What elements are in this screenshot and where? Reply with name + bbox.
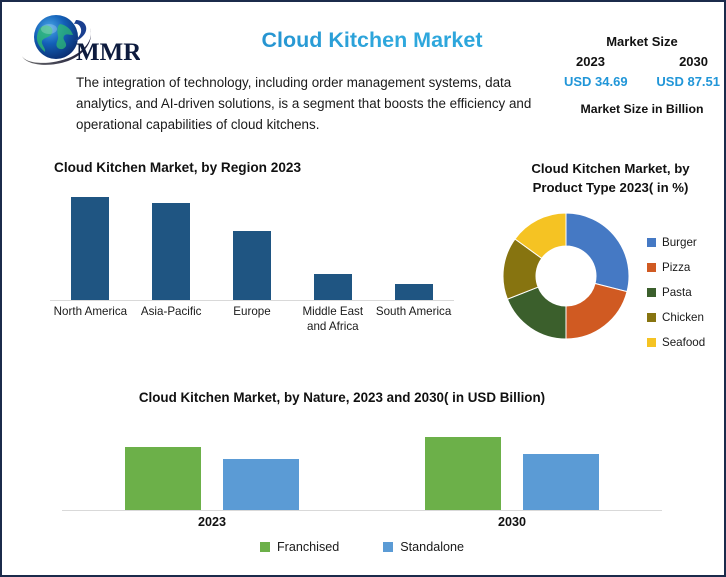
legend-item: Burger (647, 230, 725, 255)
legend-label: Franchised (277, 540, 339, 554)
mmr-logo: MMR (16, 10, 140, 68)
region-bar (71, 197, 109, 300)
legend-label: Chicken (662, 311, 704, 324)
nature-legend: FranchisedStandalone (62, 540, 662, 554)
legend-swatch (647, 263, 656, 272)
market-size-footer: Market Size in Billion (562, 102, 722, 116)
region-axis-label: Europe (212, 304, 293, 319)
region-chart-title: Cloud Kitchen Market, by Region 2023 (54, 160, 301, 175)
region-axis-label: South America (373, 304, 454, 319)
logo-wordmark: MMR (76, 39, 140, 66)
region-bar (395, 284, 433, 301)
legend-swatch (383, 542, 393, 552)
nature-bar (425, 437, 501, 510)
market-size-value-2030: USD 87.51 (656, 74, 720, 89)
nature-axis-label: 2023 (62, 515, 362, 529)
nature-chart-title: Cloud Kitchen Market, by Nature, 2023 an… (62, 390, 622, 405)
legend-label: Burger (662, 236, 697, 249)
legend-item: Pasta (647, 280, 725, 305)
legend-item: Pizza (647, 255, 725, 280)
nature-bar (223, 459, 299, 510)
legend-swatch (647, 288, 656, 297)
region-bar (233, 231, 271, 300)
nature-bar (125, 447, 201, 510)
product-type-chart-title: Cloud Kitchen Market, by Product Type 20… (508, 159, 713, 197)
legend-swatch (647, 313, 656, 322)
infographic-canvas: MMR Cloud Kitchen Market The integration… (0, 0, 726, 577)
product-type-legend: BurgerPizzaPastaChickenSeafood (647, 230, 725, 355)
nature-plot-area (62, 417, 662, 511)
region-bar (152, 203, 190, 300)
region-bar (314, 274, 352, 300)
legend-swatch (647, 238, 656, 247)
nature-bar (523, 454, 599, 510)
donut-svg (499, 209, 633, 343)
legend-swatch (647, 338, 656, 347)
legend-item: Seafood (647, 330, 725, 355)
legend-item: Standalone (383, 540, 464, 554)
donut-slice (566, 283, 627, 339)
description-text: The integration of technology, including… (76, 72, 538, 135)
market-size-year-2023: 2023 (576, 54, 605, 69)
donut-slice (566, 213, 629, 292)
nature-bar-chart: 20232030 (62, 417, 662, 537)
region-axis-label: Middle East and Africa (292, 304, 373, 334)
globe-swoosh-logo: MMR (16, 10, 140, 68)
region-axis-label: North America (50, 304, 131, 319)
market-size-year-2030: 2030 (679, 54, 708, 69)
legend-label: Pizza (662, 261, 690, 274)
nature-axis-label: 2030 (362, 515, 662, 529)
legend-label: Seafood (662, 336, 705, 349)
legend-item: Franchised (260, 540, 339, 554)
market-size-values: USD 34.69 USD 87.51 (562, 74, 722, 89)
market-size-value-2023: USD 34.69 (564, 74, 628, 89)
region-bar-chart: North AmericaAsia-PacificEuropeMiddle Ea… (50, 190, 454, 350)
page-title: Cloud Kitchen Market (172, 28, 572, 53)
legend-swatch (260, 542, 270, 552)
legend-item: Chicken (647, 305, 725, 330)
market-size-years: 2023 2030 (562, 54, 722, 69)
market-size-block: Market Size 2023 2030 USD 34.69 USD 87.5… (562, 34, 722, 116)
product-type-donut-chart (499, 209, 633, 343)
region-plot-area (50, 190, 454, 301)
legend-label: Standalone (400, 540, 464, 554)
market-size-title: Market Size (562, 34, 722, 49)
region-axis-label: Asia-Pacific (131, 304, 212, 319)
legend-label: Pasta (662, 286, 692, 299)
